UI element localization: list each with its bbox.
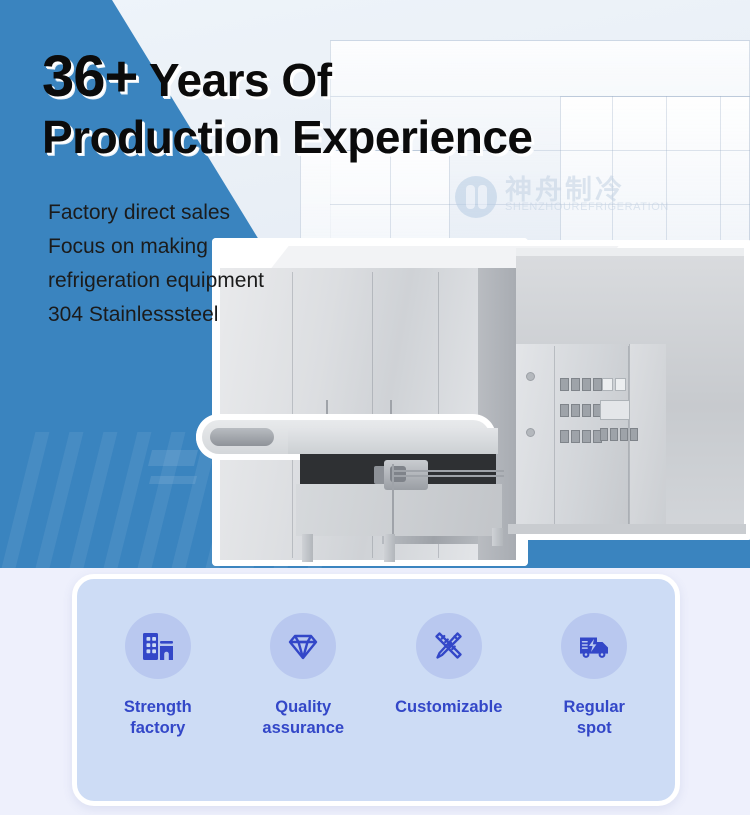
feature-icon-circle xyxy=(416,613,482,679)
headline-years-count: 36+ xyxy=(42,44,137,109)
feature-icon-circle xyxy=(270,613,336,679)
conveyor-tie-rod xyxy=(392,475,504,477)
hero-banner: 神舟制冷 SHENZHOUREFRIGERATION 36+ Years Of … xyxy=(0,0,750,568)
freezer-base-rail xyxy=(508,524,746,534)
conveyor-roller xyxy=(210,428,274,446)
feature-label: Customizable xyxy=(395,697,502,718)
feature-label-line2: factory xyxy=(130,719,185,737)
headline-line1-rest: Years Of xyxy=(137,54,331,106)
control-display xyxy=(600,400,630,420)
cabinet-seam xyxy=(554,346,555,528)
subcopy-line: Factory direct sales xyxy=(48,196,348,230)
delivery-truck-icon xyxy=(575,627,613,665)
subcopy-line: Focus on making xyxy=(48,230,348,264)
conveyor-tie-rod xyxy=(392,470,504,472)
feature-label-line1: Regular xyxy=(564,698,625,716)
conveyor-frame xyxy=(296,484,502,536)
headline-line2: Production Experience xyxy=(42,113,702,162)
background-company-logo: 神舟制冷 SHENZHOUREFRIGERATION xyxy=(455,168,680,230)
feature-item-customizable[interactable]: Customizable xyxy=(378,613,520,718)
breaker-switch-group xyxy=(600,428,638,441)
breaker-switch-group xyxy=(602,378,626,391)
hero-subcopy: Factory direct sales Focus on making ref… xyxy=(48,196,348,332)
cabinet-knob xyxy=(526,428,535,437)
feature-item-strength-factory[interactable]: Strength factory xyxy=(87,613,229,739)
subcopy-line: 304 Stainlesssteel xyxy=(48,298,348,332)
freezer-leg xyxy=(492,528,503,546)
breaker-switch-group xyxy=(560,404,602,417)
breaker-switch-group xyxy=(560,378,602,391)
conveyor-deck xyxy=(288,428,498,454)
feature-highlights-card: Strength factory Quality assurance xyxy=(72,574,680,806)
feature-label-line1: Customizable xyxy=(395,698,502,716)
feature-item-quality-assurance[interactable]: Quality assurance xyxy=(232,613,374,739)
feature-icon-circle xyxy=(561,613,627,679)
feature-label: Regular spot xyxy=(564,697,625,739)
feature-icon-circle xyxy=(125,613,191,679)
conveyor-vertical-rod xyxy=(392,464,394,540)
feature-label-line2: assurance xyxy=(262,719,344,737)
feature-label: Strength factory xyxy=(124,697,192,739)
feature-label-line2: spot xyxy=(577,719,612,737)
subcopy-line: refrigeration equipment xyxy=(48,264,348,298)
breaker-switch-group xyxy=(560,430,602,443)
ruler-pencil-icon xyxy=(430,627,468,665)
cabinet-knob xyxy=(526,372,535,381)
conveyor-leg xyxy=(384,534,395,562)
diamond-icon xyxy=(284,627,322,665)
feature-label-line1: Strength xyxy=(124,698,192,716)
feature-item-regular-spot[interactable]: Regular spot xyxy=(523,613,665,739)
company-logo-english: SHENZHOUREFRIGERATION xyxy=(505,201,669,213)
feature-label-line1: Quality xyxy=(275,698,331,716)
page-title: 36+ Years Of Production Experience xyxy=(42,46,702,162)
feature-label: Quality assurance xyxy=(262,697,344,739)
conveyor-leg xyxy=(302,534,313,562)
company-logo-mark xyxy=(455,176,497,218)
building-icon xyxy=(139,627,177,665)
